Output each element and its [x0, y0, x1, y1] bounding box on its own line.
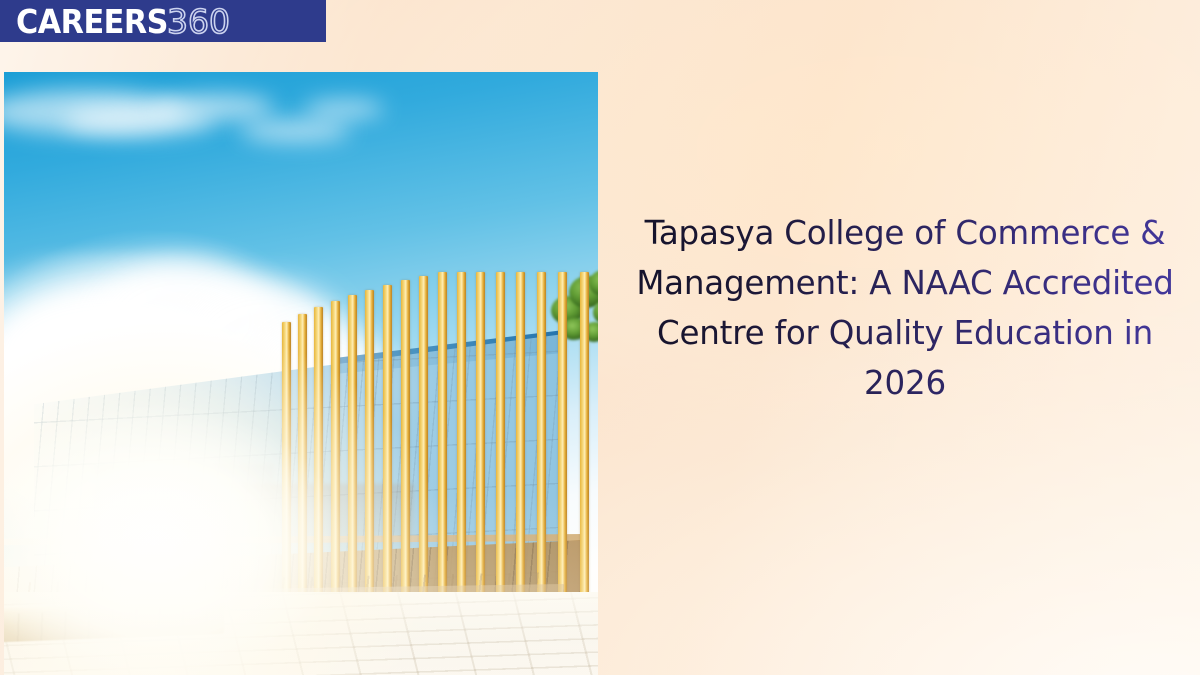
- page-title: Tapasya College of Commerce & Management…: [612, 208, 1198, 408]
- college-building-photo: [4, 72, 598, 675]
- poster-canvas: CAREERS360: [0, 0, 1200, 675]
- logo-text-careers: CAREERS: [16, 5, 168, 38]
- logo-text-360: 360: [167, 5, 230, 38]
- building: [4, 72, 598, 675]
- louver-fin: [580, 272, 589, 632]
- careers360-logo[interactable]: CAREERS360: [0, 0, 326, 42]
